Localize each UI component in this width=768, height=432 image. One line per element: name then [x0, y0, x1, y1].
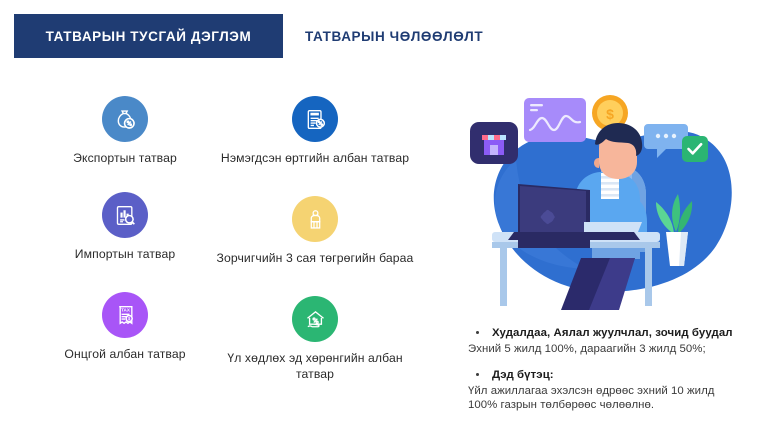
bullet-list: Худалдаа, Аялал жуулчлал, зочид буудал Э…	[468, 326, 760, 424]
chart-card-icon	[524, 98, 586, 142]
bullet-heading: Худалдаа, Аялал жуулчлал, зочид буудал	[492, 326, 760, 340]
grid-item-label: Онцгой албан татвар	[25, 347, 225, 363]
tab-inactive-label: ТАТВАРЫН ЧӨЛӨӨЛӨЛТ	[305, 29, 483, 44]
bullet-heading: Дэд бүтэц:	[492, 368, 760, 382]
slide: ТАТВАРЫН ТУСГАЙ ДЭГЛЭМ ТАТВАРЫН ЧӨЛӨӨЛӨЛ…	[0, 0, 768, 432]
shop-card-icon	[470, 122, 518, 164]
house-percent-icon	[292, 296, 338, 342]
bullet-line: Үйл ажиллагаа эхэлсэн өдрөөс эхний 10 жи…	[468, 384, 760, 399]
tab-active-label: ТАТВАРЫН ТУСГАЙ ДЭГЛЭМ	[46, 29, 252, 44]
grid-item-label: Экспортын татвар	[25, 151, 225, 167]
report-search-icon	[102, 192, 148, 238]
illustration-man-working-on-laptop: $	[462, 72, 762, 312]
grid-item-traveler-goods[interactable]: Зорчигчийн 3 сая төгрөгийн бараа	[215, 196, 415, 267]
grid-item-import-tax[interactable]: Импортын татвар	[25, 192, 225, 263]
grid-item-property-tax[interactable]: Үл хөдлөх эд хөрөнгийн албан татвар	[215, 296, 415, 382]
grid-item-export-tax[interactable]: Экспортын татвар	[25, 96, 225, 167]
check-badge-icon	[682, 136, 708, 162]
grid-item-excise-tax[interactable]: TAX $ Онцгой албан татвар	[25, 292, 225, 363]
bullet-dot-icon	[476, 373, 479, 376]
bullet-line: 100% газрын төлбөрөөс чөлөөлнө.	[468, 398, 760, 413]
tab-tax-exemption[interactable]: ТАТВАРЫН ЧӨЛӨӨЛӨЛТ	[305, 14, 483, 58]
bullet-dot-icon	[476, 331, 479, 334]
money-bag-percent-icon	[102, 96, 148, 142]
tax-type-grid: Экспортын татвар Импортын татвар	[0, 96, 460, 416]
grid-item-vat[interactable]: Нэмэгдсэн өртгийн албан татвар	[215, 96, 415, 167]
traveler-bag-icon	[292, 196, 338, 242]
bullet-item-infrastructure: Дэд бүтэц: Үйл ажиллагаа эхэлсэн өдрөөс …	[468, 368, 760, 413]
grid-item-label: Зорчигчийн 3 сая төгрөгийн бараа	[215, 251, 415, 267]
grid-item-label: Импортын татвар	[25, 247, 225, 263]
tab-special-tax-regime[interactable]: ТАТВАРЫН ТУСГАЙ ДЭГЛЭМ	[14, 14, 283, 58]
vat-invoice-icon	[292, 96, 338, 142]
bullet-line: Эхний 5 жилд 100%, дараагийн 3 жилд 50%;	[468, 342, 760, 357]
grid-item-label: Үл хөдлөх эд хөрөнгийн албан татвар	[215, 351, 415, 382]
tab-bar: ТАТВАРЫН ТУСГАЙ ДЭГЛЭМ ТАТВАРЫН ЧӨЛӨӨЛӨЛ…	[0, 14, 768, 58]
grid-item-label: Нэмэгдсэн өртгийн албан татвар	[215, 151, 415, 167]
tax-receipt-icon: TAX $	[102, 292, 148, 338]
svg-text:$: $	[606, 106, 614, 122]
svg-text:TAX: TAX	[121, 307, 130, 312]
bullet-item-trade-tourism: Худалдаа, Аялал жуулчлал, зочид буудал Э…	[468, 326, 760, 357]
